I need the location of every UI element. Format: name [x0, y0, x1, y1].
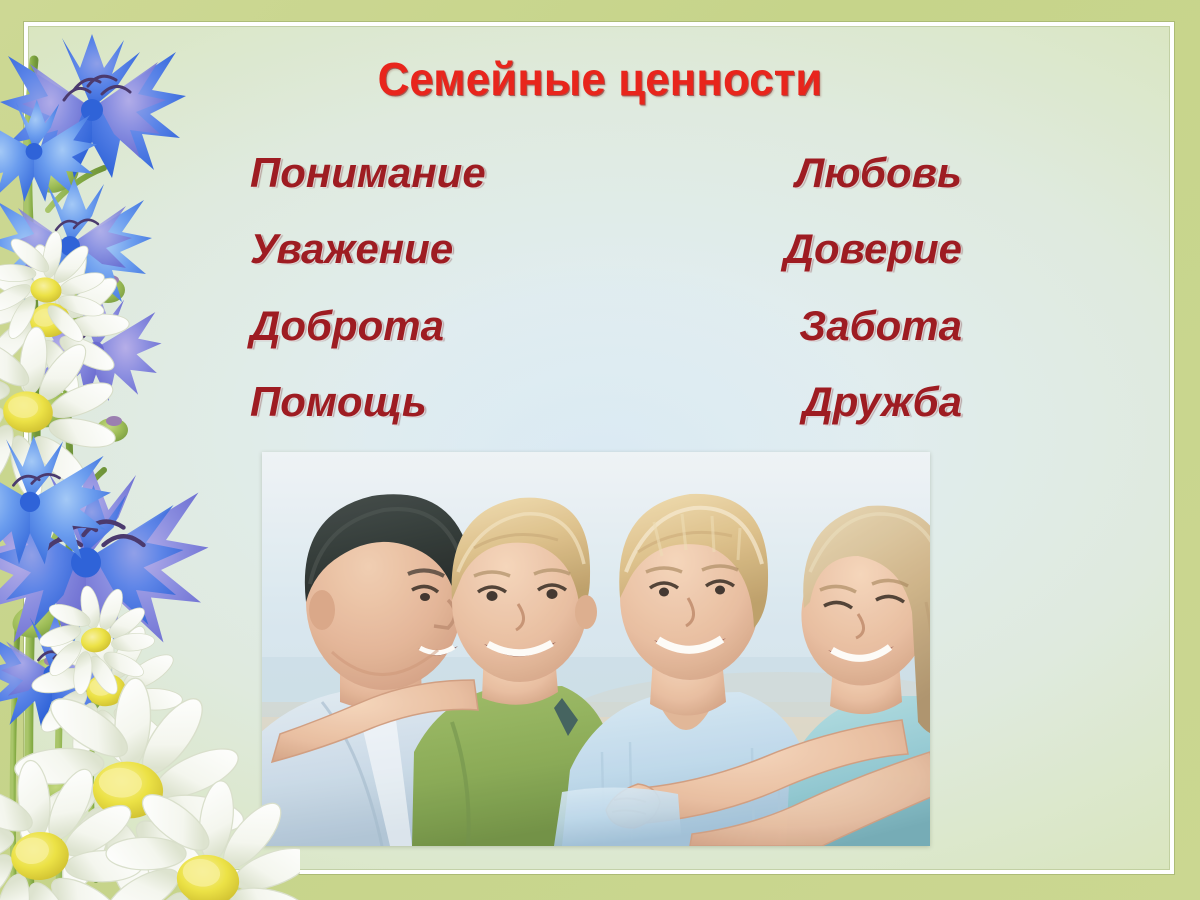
slide-root: Семейные ценности Понимание Любовь Уваже… — [0, 0, 1200, 900]
page-title: Семейные ценности — [30, 52, 1170, 106]
value-word-pomoshch: Помощь — [250, 364, 605, 440]
value-word-doverie: Доверие — [615, 211, 970, 287]
family-values-list: Понимание Любовь Уважение Доверие Доброт… — [250, 135, 970, 440]
value-word-druzhba: Дружба — [615, 364, 970, 440]
value-word-uvazhenie: Уважение — [250, 211, 605, 287]
value-word-lyubov: Любовь — [615, 135, 970, 211]
value-word-dobrota: Доброта — [250, 288, 605, 364]
family-photo-artwork — [262, 452, 930, 846]
family-photo — [262, 452, 930, 846]
value-word-zabota: Забота — [615, 288, 970, 364]
value-word-ponimanie: Понимание — [250, 135, 605, 211]
